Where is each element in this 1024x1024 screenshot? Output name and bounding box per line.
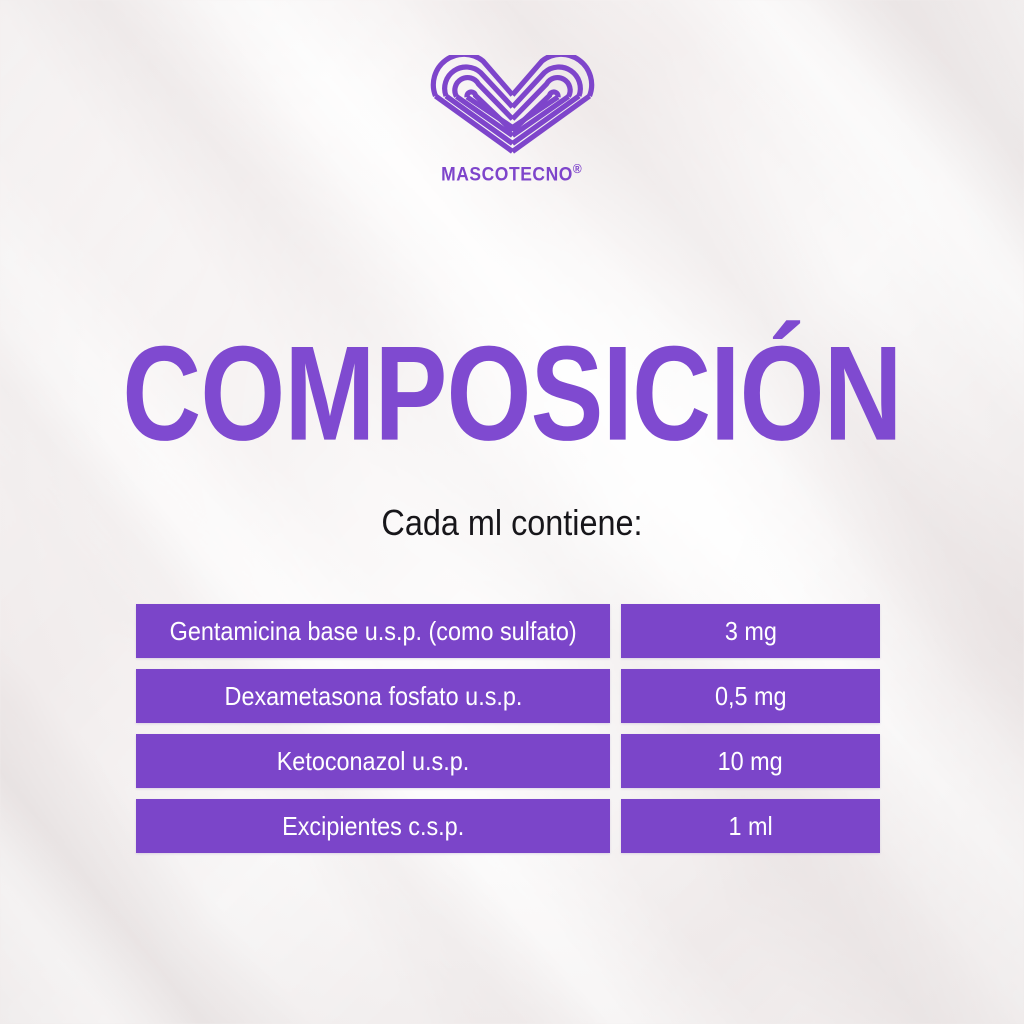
composition-table: Gentamicina base u.s.p. (como sulfato) 3… [136, 604, 880, 853]
ingredient-amount-cell: 3 mg [621, 604, 880, 658]
composition-subtitle: Cada ml contiene: [51, 502, 973, 544]
table-row: Dexametasona fosfato u.s.p. 0,5 mg [136, 669, 880, 723]
mascotecno-heart-infinity-icon [425, 55, 600, 155]
table-row: Gentamicina base u.s.p. (como sulfato) 3… [136, 604, 880, 658]
ingredient-name-cell: Ketoconazol u.s.p. [136, 734, 610, 788]
composition-card: MASCOTECNO® COMPOSICIÓN Cada ml contiene… [0, 0, 1024, 1024]
page-title: COMPOSICIÓN [72, 326, 953, 461]
brand-wordmark: MASCOTECNO® [441, 161, 582, 186]
ingredient-amount-cell: 0,5 mg [621, 669, 880, 723]
registered-trademark-icon: ® [573, 161, 582, 176]
ingredient-amount-cell: 10 mg [621, 734, 880, 788]
ingredient-amount-cell: 1 ml [621, 799, 880, 853]
ingredient-name-cell: Gentamicina base u.s.p. (como sulfato) [136, 604, 610, 658]
table-row: Ketoconazol u.s.p. 10 mg [136, 734, 880, 788]
ingredient-name-cell: Dexametasona fosfato u.s.p. [136, 669, 610, 723]
brand-wordmark-text: MASCOTECNO [441, 164, 573, 185]
table-row: Excipientes c.s.p. 1 ml [136, 799, 880, 853]
ingredient-name-cell: Excipientes c.s.p. [136, 799, 610, 853]
brand-logo: MASCOTECNO® [0, 55, 1024, 186]
